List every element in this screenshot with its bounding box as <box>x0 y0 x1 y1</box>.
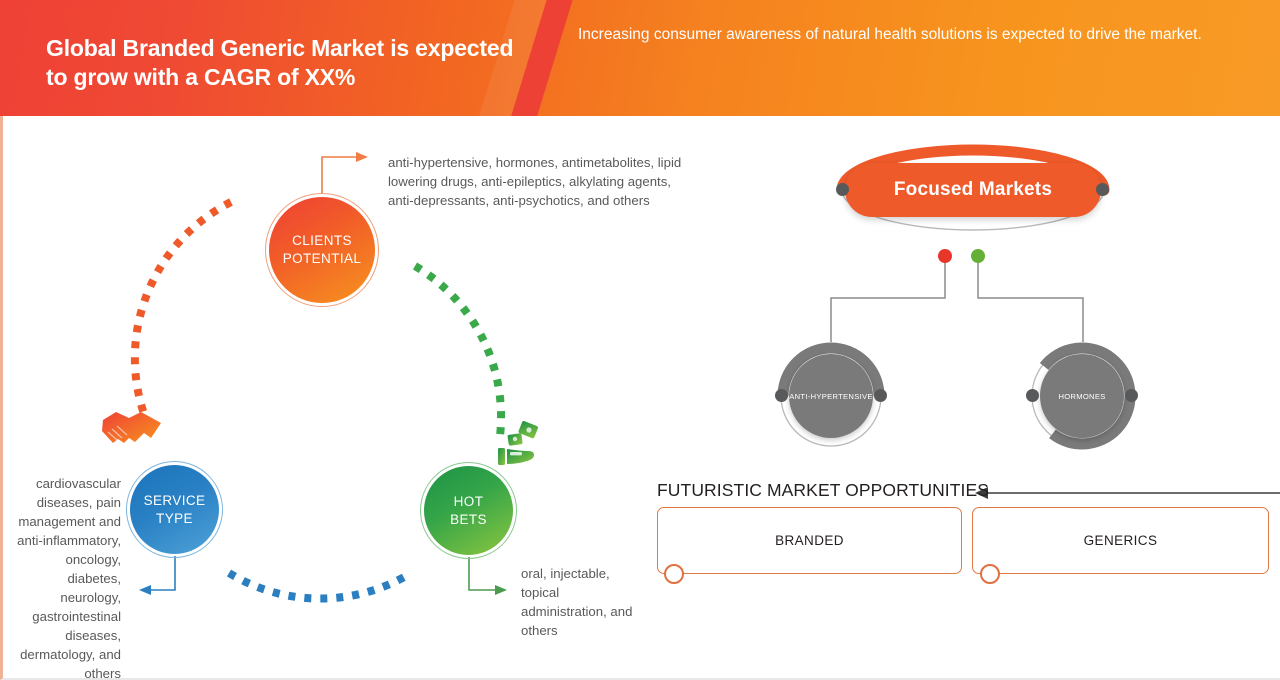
left-diagram: CLIENTS POTENTIAL SERVICE TYPE HOT BETS … <box>3 116 643 678</box>
branded-box[interactable]: BRANDED <box>657 507 962 574</box>
hormones-label: HORMONES <box>1058 392 1105 401</box>
hormones-dot-left <box>1026 389 1039 402</box>
branded-marker-circle <box>664 564 684 584</box>
page-title: Global Branded Generic Market is expecte… <box>46 34 516 92</box>
node-hot-bets-label: HOT BETS <box>450 493 487 529</box>
focused-markets-dot-right <box>1096 183 1109 196</box>
infographic-page: Global Branded Generic Market is expecte… <box>0 0 1280 680</box>
money-hand-icon <box>498 421 544 476</box>
focused-markets-button[interactable]: Focused Markets <box>845 163 1101 217</box>
hormones-group: HORMONES <box>1024 338 1140 454</box>
arc-service-to-hotbets <box>229 573 406 599</box>
hormones-node[interactable]: HORMONES <box>1040 354 1124 438</box>
leader-hotbets <box>469 557 507 595</box>
generics-box[interactable]: GENERICS <box>972 507 1269 574</box>
node-hot-bets[interactable]: HOT BETS <box>424 466 513 555</box>
arc-clients-to-hotbets <box>415 266 501 436</box>
futuristic-opportunities-title: FUTURISTIC MARKET OPPORTUNITIES <box>657 480 989 501</box>
red-connector-dot <box>938 249 952 263</box>
anti-hypertensive-group: ANTI-HYPERTENSIVE <box>773 338 889 454</box>
generics-marker-circle <box>980 564 1000 584</box>
futuristic-arrow <box>975 487 1280 499</box>
anti-hypertensive-node[interactable]: ANTI-HYPERTENSIVE <box>789 354 873 438</box>
handshake-icon <box>99 404 165 461</box>
connector-to-hormones <box>978 262 1083 342</box>
service-type-description: cardiovascular diseases, pain management… <box>9 474 121 680</box>
leader-clients <box>322 152 368 194</box>
header-banner: Global Branded Generic Market is expecte… <box>0 0 1280 116</box>
anti-hypertensive-dot-left <box>775 389 788 402</box>
node-clients-potential[interactable]: CLIENTS POTENTIAL <box>269 197 375 303</box>
anti-hypertensive-label: ANTI-HYPERTENSIVE <box>789 392 872 401</box>
generics-label: GENERICS <box>1084 533 1158 548</box>
connector-to-anti-hypertensive <box>831 262 945 342</box>
node-service-type[interactable]: SERVICE TYPE <box>130 465 219 554</box>
branded-label: BRANDED <box>775 533 844 548</box>
node-clients-potential-label: CLIENTS POTENTIAL <box>283 232 362 268</box>
hot-bets-description: oral, injectable, topical administration… <box>521 564 643 640</box>
focused-markets-dot-left <box>836 183 849 196</box>
focused-markets-group: Focused Markets <box>823 144 1123 232</box>
anti-hypertensive-dot-right <box>874 389 887 402</box>
node-service-type-label: SERVICE TYPE <box>144 492 206 528</box>
right-diagram: Focused Markets ANTI-HYPERTENSIVE <box>643 116 1280 678</box>
header-subtitle: Increasing consumer awareness of natural… <box>578 24 1238 46</box>
green-connector-dot <box>971 249 985 263</box>
hormones-dot-right <box>1125 389 1138 402</box>
focused-markets-label: Focused Markets <box>894 179 1052 201</box>
arc-clients-to-service <box>135 202 231 414</box>
leader-service <box>139 556 175 595</box>
